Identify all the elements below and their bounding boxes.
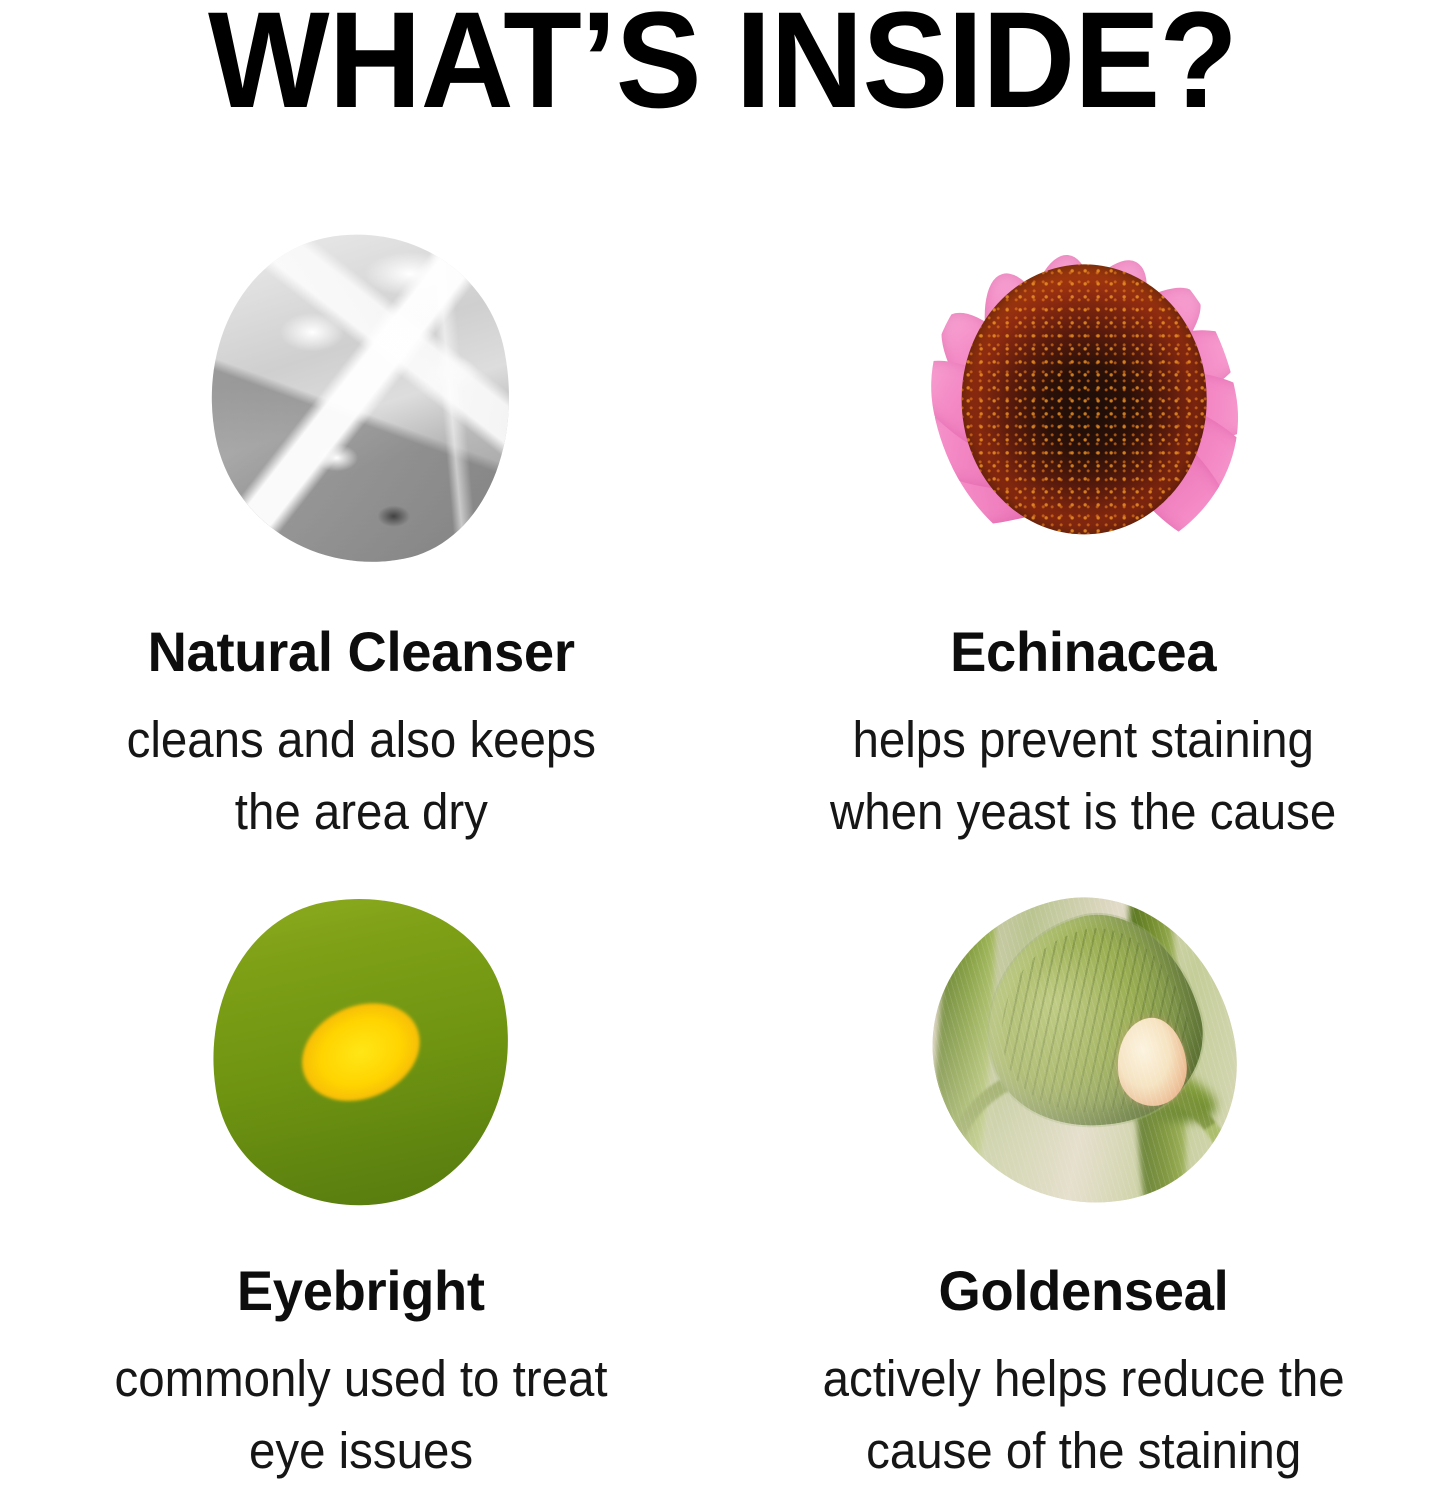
ingredient-grid: Natural Cleanser cleans and also keeps t… [0, 130, 1445, 1487]
ingredient-card-goldenseal: Goldenseal actively helps reduce the cau… [722, 860, 1445, 1487]
ingredient-card-eyebright: Eyebright commonly used to treat eye iss… [0, 860, 722, 1487]
quartz-crystal-image [211, 234, 511, 564]
goldenseal-plant-image [934, 898, 1234, 1205]
ingredient-description: actively helps reduce the cause of the s… [822, 1343, 1344, 1487]
ingredient-name: Eyebright [237, 1263, 485, 1319]
ingredient-description: cleans and also keeps the area dry [126, 704, 595, 848]
ingredient-card-echinacea: Echinacea helps prevent staining when ye… [722, 130, 1445, 860]
ingredient-description: commonly used to treat eye issues [115, 1343, 608, 1487]
ingredient-name: Goldenseal [939, 1263, 1229, 1319]
echinacea-flower-image [934, 234, 1234, 564]
ingredient-name: Echinacea [950, 624, 1216, 680]
page-title: WHAT’S INSIDE? [43, 0, 1401, 129]
ingredient-description: helps prevent staining when yeast is the… [830, 704, 1336, 848]
eyebright-flower-image [211, 898, 511, 1205]
ingredient-card-natural-cleanser: Natural Cleanser cleans and also keeps t… [0, 130, 722, 860]
ingredient-name: Natural Cleanser [147, 624, 574, 680]
